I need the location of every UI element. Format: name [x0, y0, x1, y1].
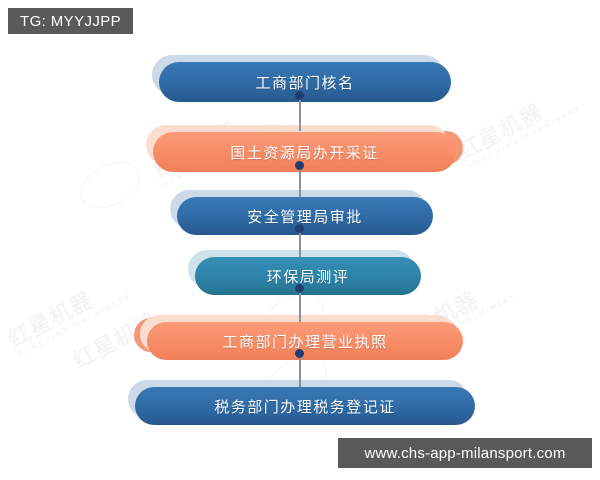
connector-dot-2: [295, 161, 304, 170]
flow-step-label: 环保局测评: [267, 266, 350, 287]
flow-step-body: 税务部门办理税务登记证: [135, 387, 475, 425]
website-url-badge: www.chs-app-milansport.com: [338, 438, 592, 468]
flow-step-4[interactable]: 环保局测评: [188, 250, 414, 288]
flow-step-6[interactable]: 税务部门办理税务登记证: [128, 380, 468, 418]
flow-step-body: 国土资源局办开采证: [153, 132, 456, 172]
flowchart: 工商部门核名 国土资源局办开采证 安全管理局审批 环保局测评: [0, 0, 600, 480]
connector-line-1-2: [299, 95, 301, 131]
flow-step-1[interactable]: 工商部门核名: [152, 55, 444, 95]
connector-dot-3: [295, 224, 304, 233]
flow-step-label: 工商部门办理营业执照: [222, 331, 387, 352]
telegram-handle-text: TG: MYYJJPP: [20, 13, 121, 30]
flow-step-5[interactable]: 工商部门办理营业执照: [140, 315, 456, 353]
connector-dot-1: [295, 91, 304, 100]
connector-line-5-6: [299, 353, 301, 387]
flow-step-body: 工商部门核名: [159, 62, 451, 102]
website-url-text: www.chs-app-milansport.com: [364, 445, 565, 462]
screenshot-canvas: 红星机器 HONGXING MACHINERY 红星机器 HONGXING MA…: [0, 0, 600, 480]
flow-step-body: 工商部门办理营业执照: [147, 322, 463, 360]
telegram-handle-badge: TG: MYYJJPP: [8, 8, 133, 34]
flow-step-label: 税务部门办理税务登记证: [214, 396, 396, 417]
flow-step-body: 环保局测评: [195, 257, 421, 295]
flow-step-3[interactable]: 安全管理局审批: [170, 190, 426, 228]
connector-dot-4: [295, 284, 304, 293]
connector-line-4-5: [299, 288, 301, 322]
flow-step-label: 国土资源局办开采证: [230, 142, 379, 163]
flow-step-body: 安全管理局审批: [177, 197, 433, 235]
flow-step-label: 工商部门核名: [255, 72, 354, 93]
connector-dot-5: [295, 349, 304, 358]
flow-step-2[interactable]: 国土资源局办开采证: [146, 125, 449, 165]
flow-step-label: 安全管理局审批: [247, 206, 363, 227]
